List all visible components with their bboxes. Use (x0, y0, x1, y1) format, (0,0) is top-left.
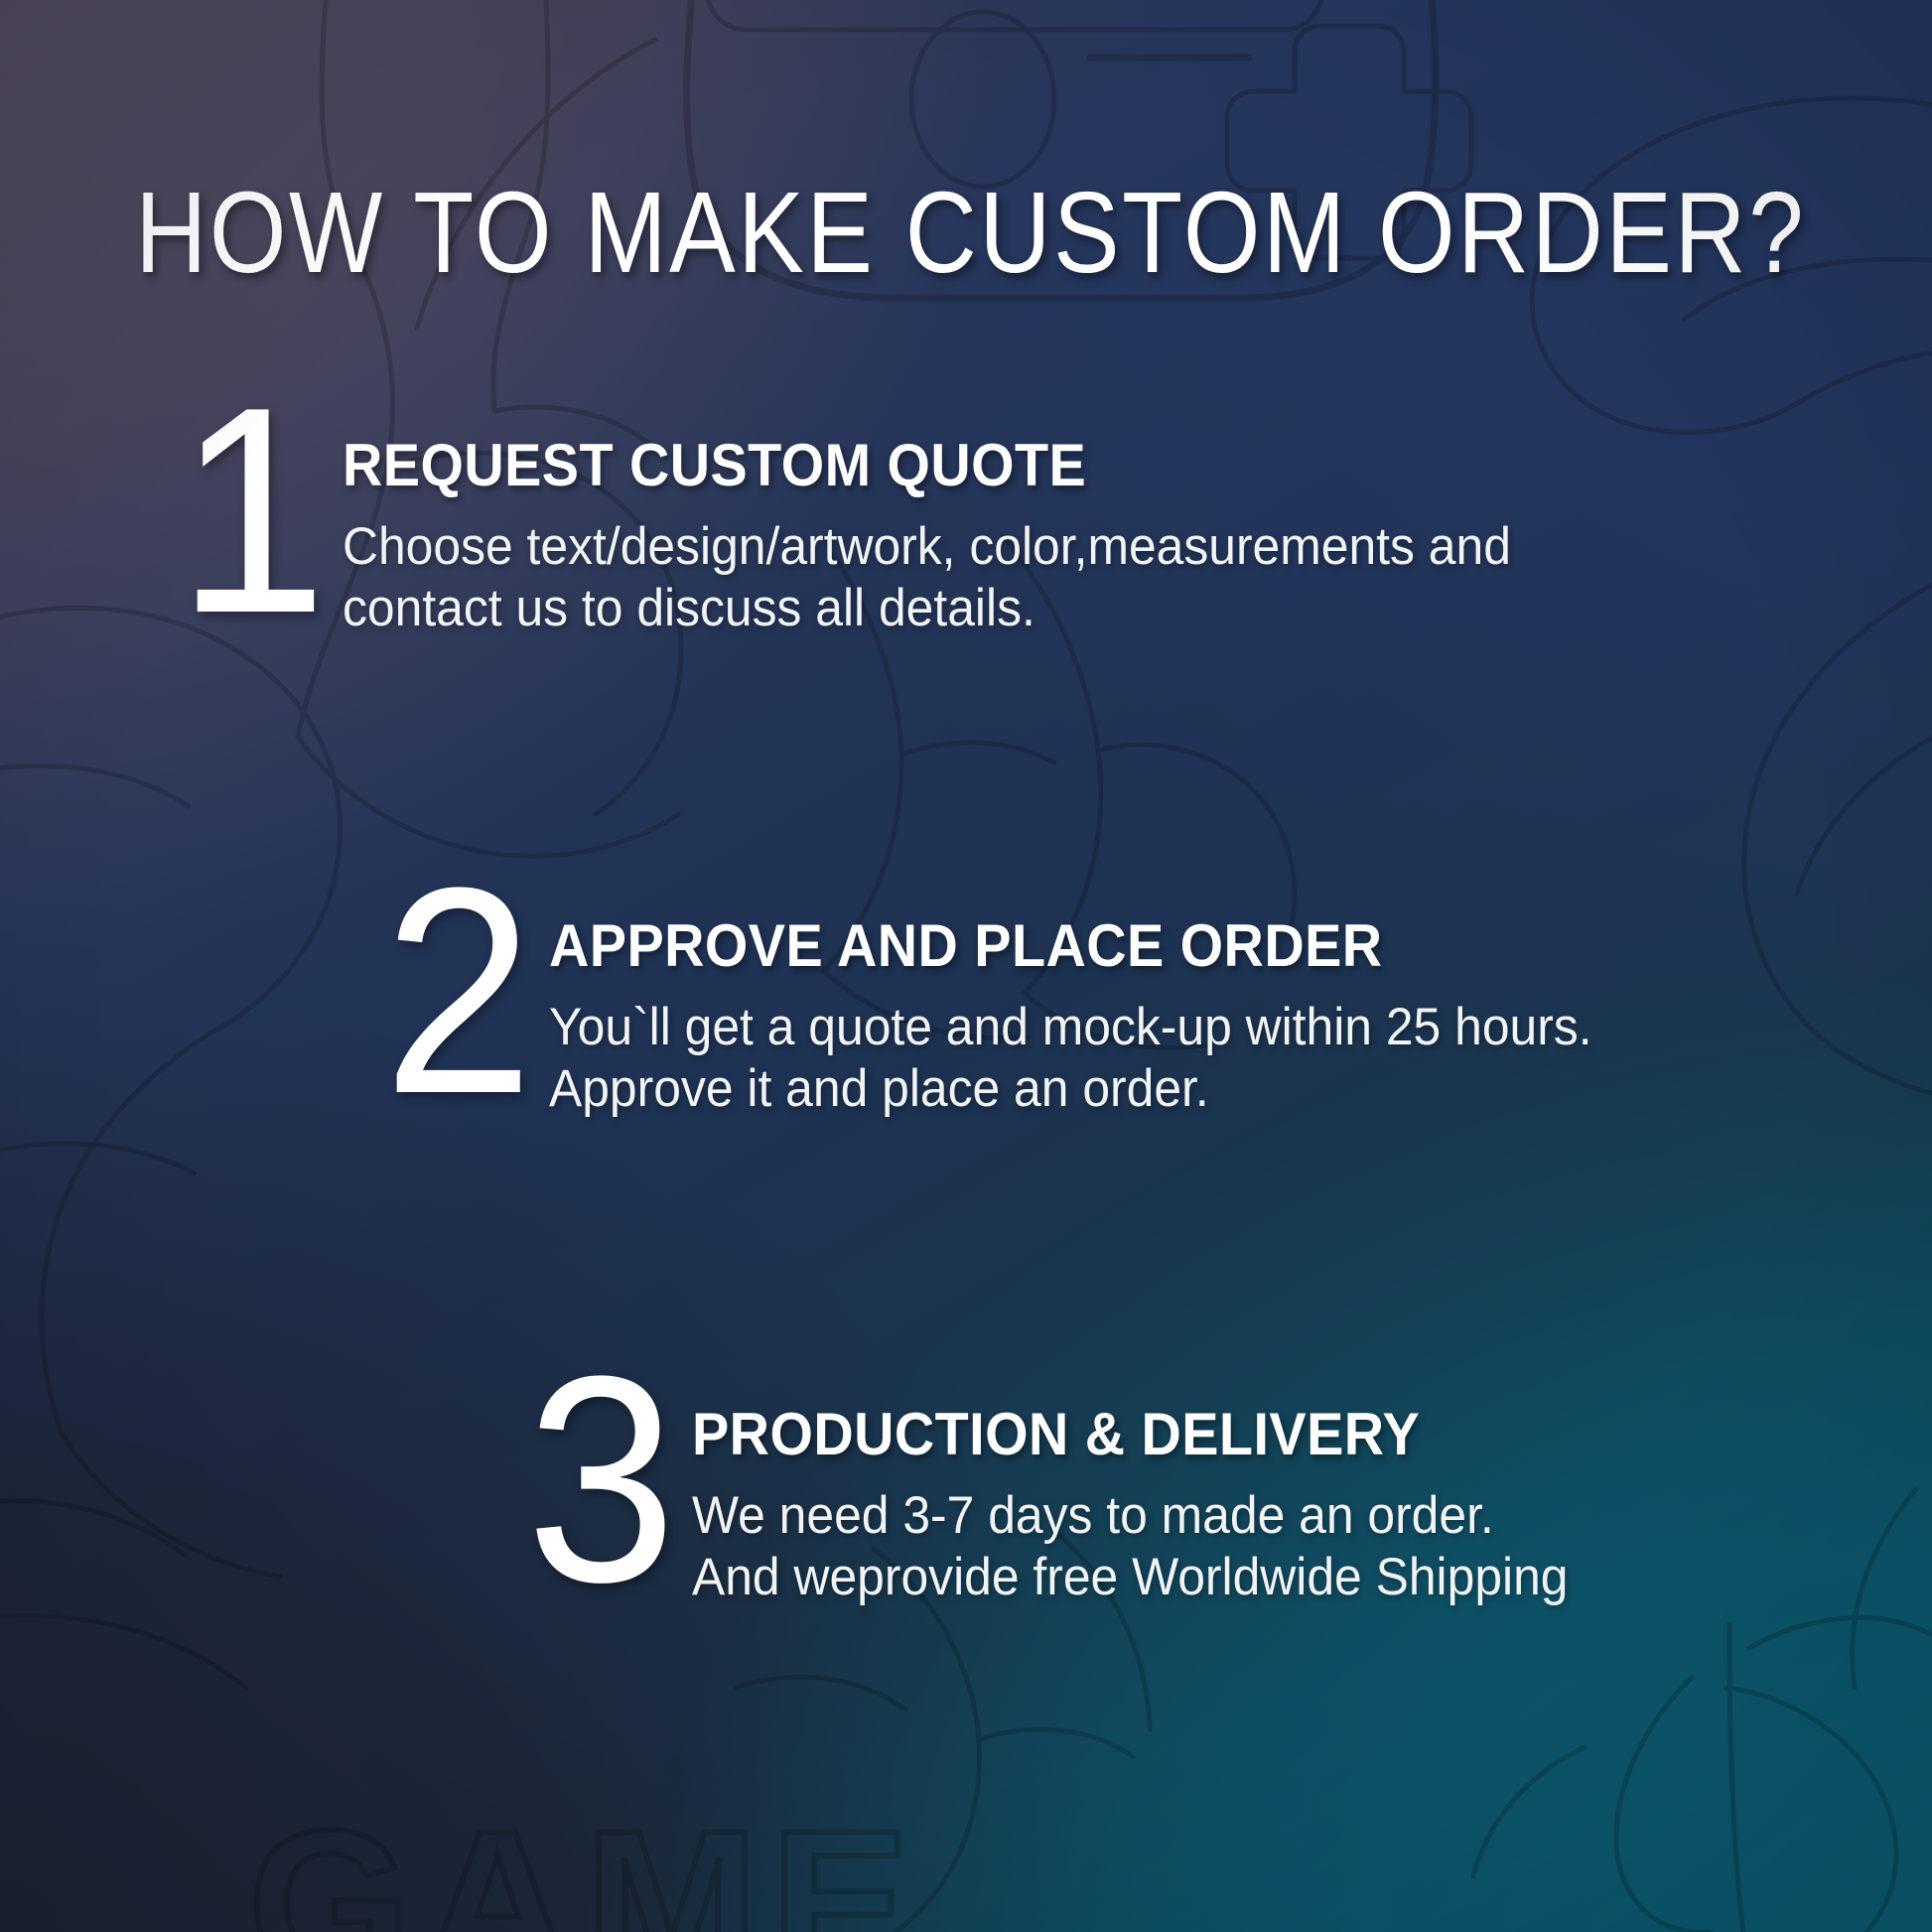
step-description-1-line-2: contact us to discuss all details. (343, 578, 1511, 638)
step-description-3: We need 3-7 days to made an order. And w… (692, 1485, 1569, 1607)
page-title: HOW TO MAKE CUSTOM ORDER? (135, 175, 1797, 290)
step-description-2: You`ll get a quote and mock-up within 25… (549, 997, 1592, 1119)
step-content-3: PRODUCTION & DELIVERY We need 3-7 days t… (692, 1390, 1624, 1607)
step-item-1: 1 REQUEST CUSTOM QUOTE Choose text/desig… (177, 421, 1586, 638)
step-description-1-line-1: Choose text/design/artwork, color,measur… (343, 516, 1511, 577)
step-description-3-line-2: And weprovide free Worldwide Shipping (692, 1547, 1569, 1607)
step-description-3-line-1: We need 3-7 days to made an order. (692, 1485, 1569, 1546)
step-description-2-line-2: Approve it and place an order. (549, 1058, 1592, 1119)
step-heading-2: APPROVE AND PLACE ORDER (549, 915, 1581, 977)
step-item-3: 3 PRODUCTION & DELIVERY We need 3-7 days… (526, 1390, 1623, 1607)
step-content-1: REQUEST CUSTOM QUOTE Choose text/design/… (343, 421, 1586, 638)
step-number-3: 3 (526, 1356, 671, 1603)
step-description-2-line-1: You`ll get a quote and mock-up within 25… (549, 997, 1592, 1057)
step-heading-3: PRODUCTION & DELIVERY (692, 1404, 1559, 1465)
step-content-2: APPROVE AND PLACE ORDER You`ll get a quo… (549, 901, 1659, 1119)
step-number-1: 1 (177, 387, 322, 634)
step-number-2: 2 (383, 868, 528, 1115)
step-description-1: Choose text/design/artwork, color,measur… (343, 516, 1511, 638)
poster-canvas: GAME HOW TO MAKE CUSTOM ORDER? 1 REQUEST… (0, 0, 1932, 1932)
step-item-2: 2 APPROVE AND PLACE ORDER You`ll get a q… (383, 901, 1658, 1119)
step-heading-1: REQUEST CUSTOM QUOTE (343, 435, 1498, 496)
